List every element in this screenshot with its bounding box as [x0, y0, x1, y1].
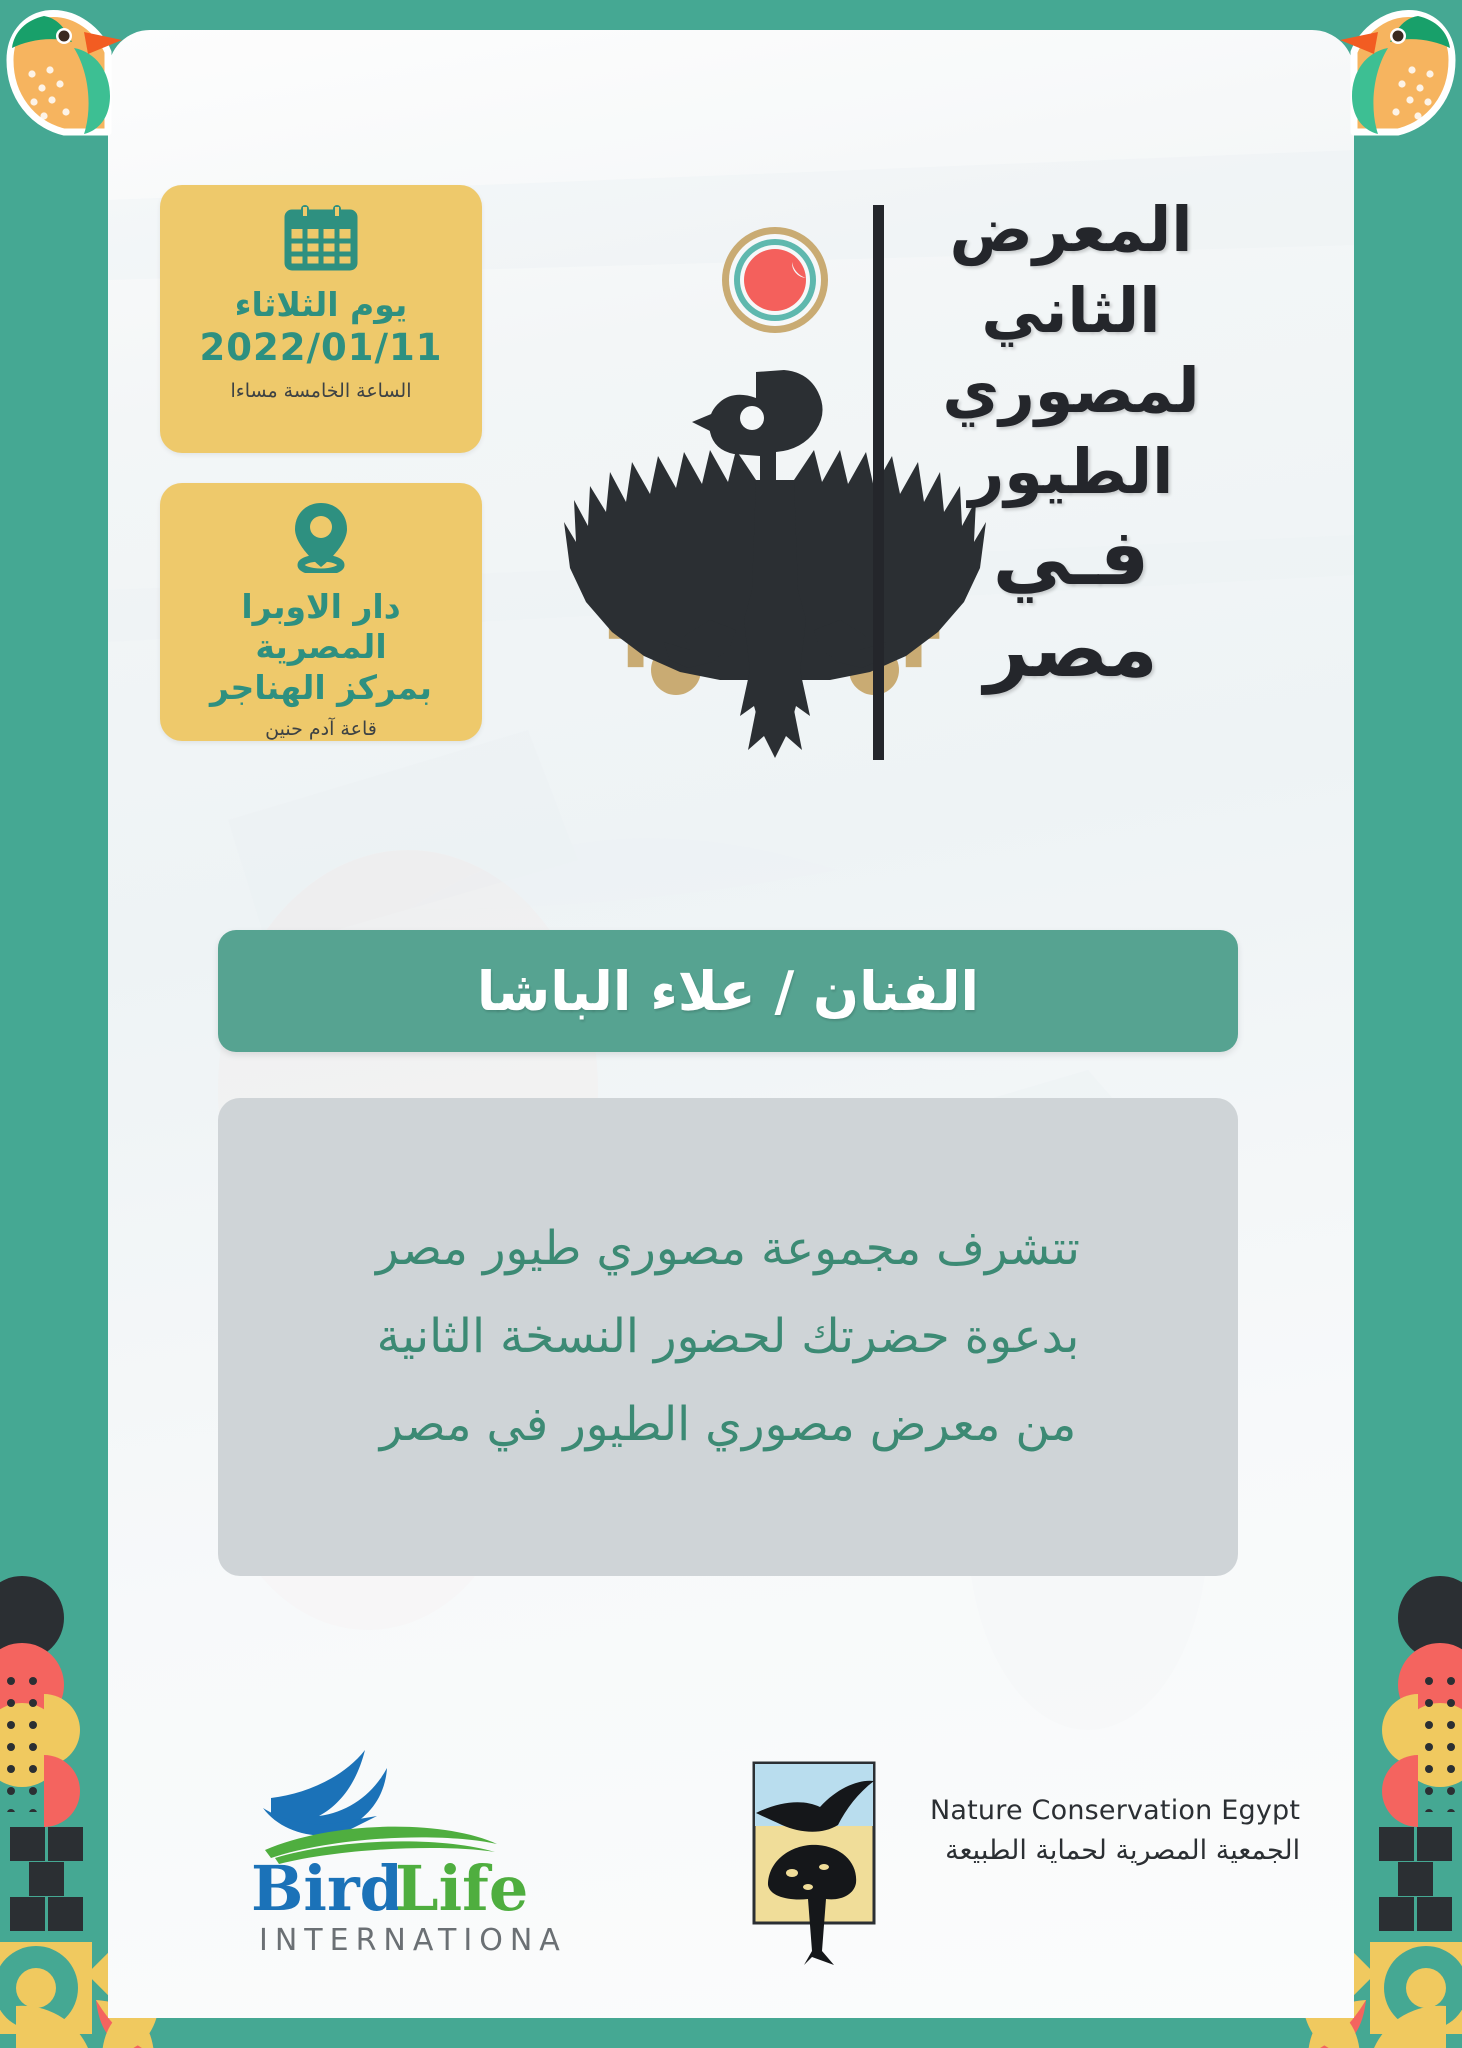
birdlife-bird-icon	[263, 1750, 387, 1836]
poster-card: المعرض الثاني لمصوري الطيور فـي مصر	[108, 30, 1354, 2018]
artist-name: الفنان / علاء الباشا	[477, 960, 979, 1023]
nce-english-name: Nature Conservation Egypt	[930, 1795, 1300, 1826]
sun-disc-icon	[722, 227, 828, 333]
birdlife-word-bird: Bird	[251, 1852, 403, 1925]
location-pin-icon	[293, 501, 349, 573]
venue-hall: قاعة آدم حنين	[170, 718, 472, 740]
kingfisher-left-icon	[0, 0, 138, 142]
title-line-5: فـي	[906, 512, 1236, 604]
venue-line-2: بمركز الهناجر	[170, 668, 472, 708]
nce-arabic-name: الجمعية المصرية لحماية الطبيعة	[930, 1835, 1300, 1866]
nce-emblem-icon	[742, 1755, 912, 1970]
date-time: الساعة الخامسة مساءا	[170, 380, 472, 402]
description-box: تتشرف مجموعة مصوري طيور مصر بدعوة حضرتك …	[218, 1098, 1238, 1576]
title-line-4: الطيور	[906, 432, 1236, 513]
kingfisher-right-icon	[1324, 0, 1462, 142]
nature-conservation-egypt-logo: Nature Conservation Egypt الجمعية المصري…	[742, 1755, 1262, 1970]
title-line-3: لمصوري	[906, 351, 1236, 432]
place-info-card: دار الاوبرا المصرية بمركز الهناجر قاعة آ…	[160, 483, 482, 741]
calendar-icon	[284, 203, 358, 271]
description-line-2: بدعوة حضرتك لحضور النسخة الثانية	[377, 1310, 1080, 1364]
nce-text-block: Nature Conservation Egypt الجمعية المصري…	[930, 1795, 1300, 1866]
date-info-card: يوم الثلاثاء 2022/01/11 الساعة الخامسة م…	[160, 185, 482, 453]
birdlife-subtitle: INTERNATIONAL	[259, 1923, 565, 1958]
birdlife-word-life: Life	[395, 1852, 528, 1925]
poster-root: المعرض الثاني لمصوري الطيور فـي مصر	[0, 0, 1462, 2048]
artist-banner: الفنان / علاء الباشا	[218, 930, 1238, 1052]
headline-vertical-rule	[873, 205, 884, 760]
title-line-1: المعرض	[906, 190, 1236, 271]
venue-line-1: دار الاوبرا المصرية	[170, 587, 472, 668]
description-line-1: تتشرف مجموعة مصوري طيور مصر	[376, 1222, 1080, 1276]
date-value: 2022/01/11	[170, 325, 472, 370]
description-line-3: من معرض مصوري الطيور في مصر	[380, 1398, 1077, 1452]
title-line-2: الثاني	[906, 271, 1236, 352]
date-day: يوم الثلاثاء	[170, 285, 472, 325]
title-line-6: مصر	[906, 604, 1236, 696]
birdlife-international-logo: Bird Life INTERNATIONAL	[245, 1712, 565, 1962]
poster-title: المعرض الثاني لمصوري الطيور فـي مصر	[906, 190, 1236, 696]
